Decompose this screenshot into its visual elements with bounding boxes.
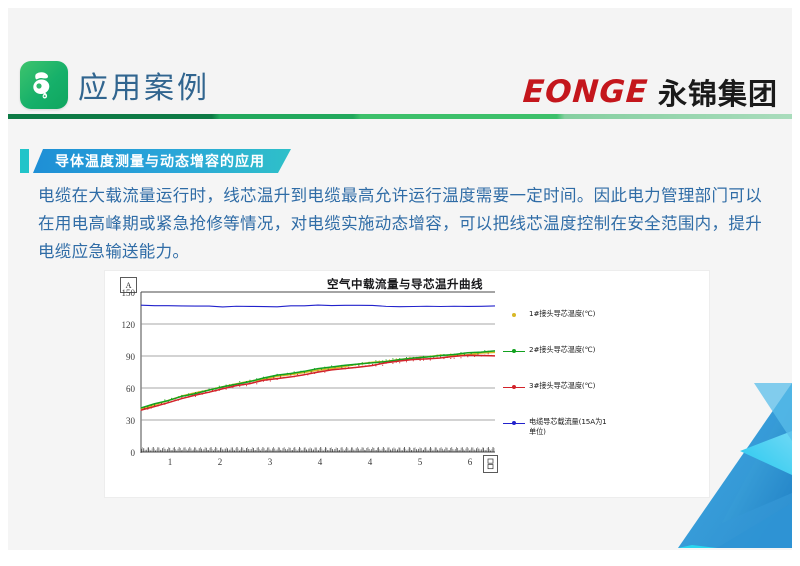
banner-gap (29, 149, 33, 173)
legend-item-3: 电缆导芯载流量(15A为1单位) (503, 417, 613, 436)
chart-inner: A 空气中载流量与导芯温升曲线 150 120 90 60 30 0 (105, 271, 709, 497)
x-tick-6: 6 (460, 457, 480, 467)
header-divider (8, 114, 792, 119)
x-tick-1: 1 (160, 457, 180, 467)
chart-plot-area (105, 271, 709, 497)
x-axis-unit-box (483, 455, 498, 473)
legend-label-3: 电缆导芯载流量(15A为1单位) (529, 417, 613, 436)
legend-swatch-icon-0 (503, 311, 525, 320)
banner-label: 导体温度测量与动态增容的应用 (55, 151, 265, 171)
legend-item-0: 1#接头导芯温度(℃) (503, 309, 595, 320)
legend-label-0: 1#接头导芯温度(℃) (529, 309, 595, 319)
green-app-badge-icon (20, 61, 68, 109)
x-tick-5: 5 (410, 457, 430, 467)
legend-label-1: 2#接头导芯温度(℃) (529, 345, 595, 355)
banner-accent-tick (20, 149, 29, 173)
footer-strip (8, 550, 792, 558)
legend-label-2: 3#接头导芯温度(℃) (529, 381, 595, 391)
section-banner: 导体温度测量与动态增容的应用 (20, 149, 291, 173)
x-tick-3: 3 (260, 457, 280, 467)
brand-name-cn: 永锦集团 (658, 71, 778, 113)
slide-root: 应用案例 EONGE 永锦集团 导体温度测量与动态增容的应用 电缆在大载流量运行… (0, 0, 800, 566)
legend-swatch-icon-1 (503, 347, 525, 356)
chart-series-line (141, 352, 495, 409)
chart-series-line (141, 355, 495, 410)
slide-header: 应用案例 EONGE 永锦集团 (8, 8, 792, 118)
legend-item-2: 3#接头导芯温度(℃) (503, 381, 595, 392)
x-tick-2: 2 (210, 457, 230, 467)
x-tick-4b: 4 (360, 457, 380, 467)
x-tick-4a: 4 (310, 457, 330, 467)
body-paragraph: 电缆在大载流量运行时，线芯温升到电缆最高允许运行温度需要一定时间。因此电力管理部… (38, 182, 762, 266)
banner-body: 导体温度测量与动态增容的应用 (33, 149, 291, 173)
legend-swatch-icon-3 (503, 419, 525, 428)
chart-series-line (141, 305, 495, 307)
brand-logo: EONGE 永锦集团 (523, 71, 778, 113)
brand-name-en: EONGE (522, 74, 650, 110)
page-title: 应用案例 (78, 63, 210, 107)
chart-series-line (141, 351, 495, 408)
page-body: 应用案例 EONGE 永锦集团 导体温度测量与动态增容的应用 电缆在大载流量运行… (8, 8, 792, 558)
legend-swatch-icon-2 (503, 383, 525, 392)
chart-container: A 空气中载流量与导芯温升曲线 150 120 90 60 30 0 (104, 270, 710, 498)
legend-item-1: 2#接头导芯温度(℃) (503, 345, 595, 356)
